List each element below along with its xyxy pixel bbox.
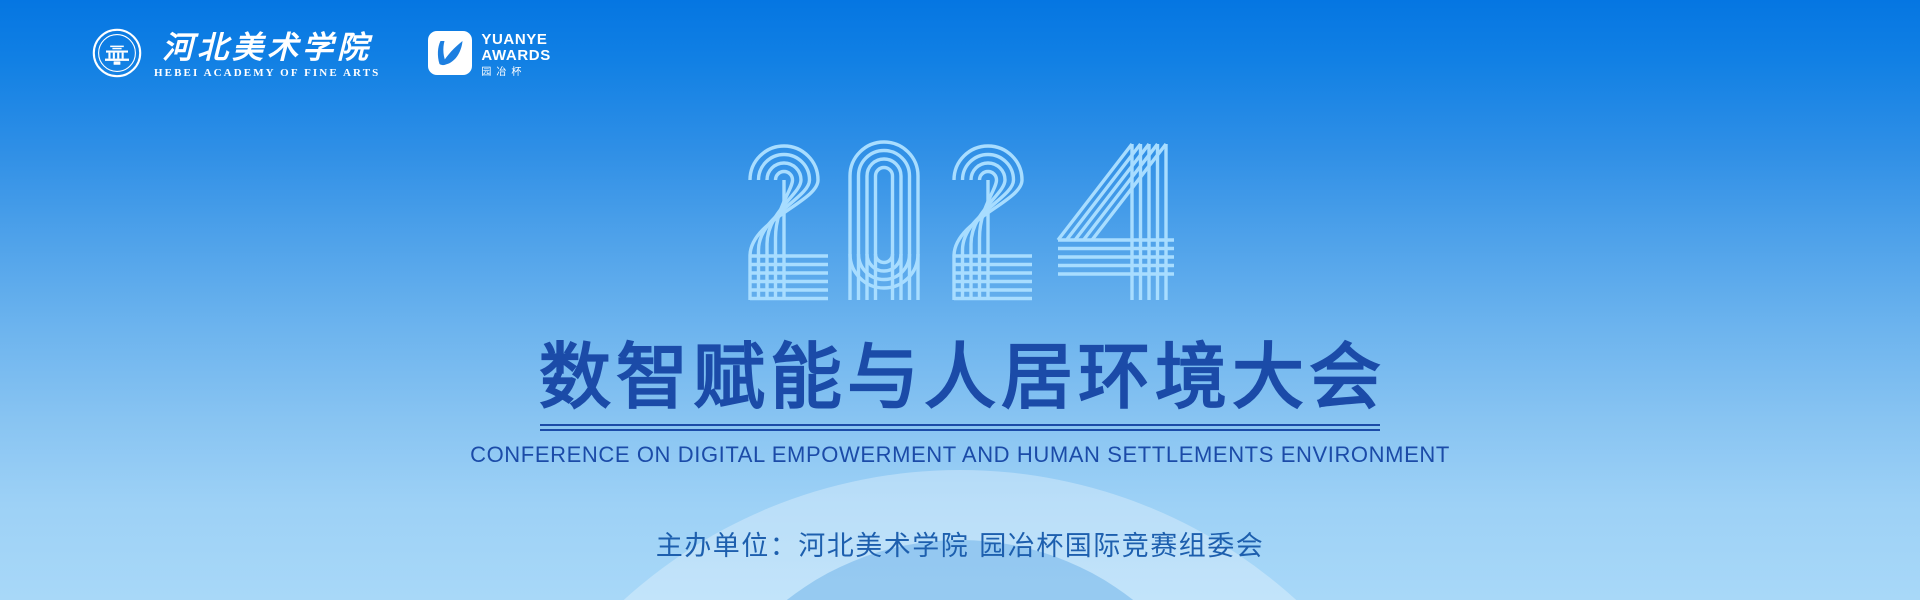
title-divider <box>540 424 1380 431</box>
conference-banner: 河北美术学院 HEBEI ACADEMY OF FINE ARTS YUANYE… <box>0 0 1920 600</box>
hebei-wordmark: 河北美术学院 HEBEI ACADEMY OF FINE ARTS <box>154 31 380 80</box>
yuanye-leaf-mark-icon <box>428 31 472 80</box>
yuanye-chinese-name: 园冶杯 <box>481 66 550 80</box>
yuanye-line-1: YUANYE <box>481 32 550 48</box>
year-2024-graphic <box>740 128 1180 308</box>
hebei-chinese-name: 河北美术学院 <box>162 31 372 65</box>
university-crest-icon <box>92 28 142 83</box>
organizer-line: 主办单位：河北美术学院 园冶杯国际竞赛组委会 <box>0 530 1920 564</box>
logo-bar: 河北美术学院 HEBEI ACADEMY OF FINE ARTS YUANYE… <box>92 28 551 83</box>
hebei-english-name: HEBEI ACADEMY OF FINE ARTS <box>154 67 380 80</box>
yuanye-line-2: AWARDS <box>481 48 550 64</box>
yuanye-awards-logo[interactable]: YUANYE AWARDS 园冶杯 <box>428 31 550 80</box>
page-title: 数智赋能与人居环境大会 <box>0 336 1920 418</box>
page-subtitle: CONFERENCE ON DIGITAL EMPOWERMENT AND HU… <box>0 441 1920 469</box>
yuanye-wordmark: YUANYE AWARDS 园冶杯 <box>481 32 550 80</box>
title-block: 数智赋能与人居环境大会 CONFERENCE ON DIGITAL EMPOWE… <box>0 336 1920 469</box>
hebei-academy-logo[interactable]: 河北美术学院 HEBEI ACADEMY OF FINE ARTS <box>92 28 380 83</box>
